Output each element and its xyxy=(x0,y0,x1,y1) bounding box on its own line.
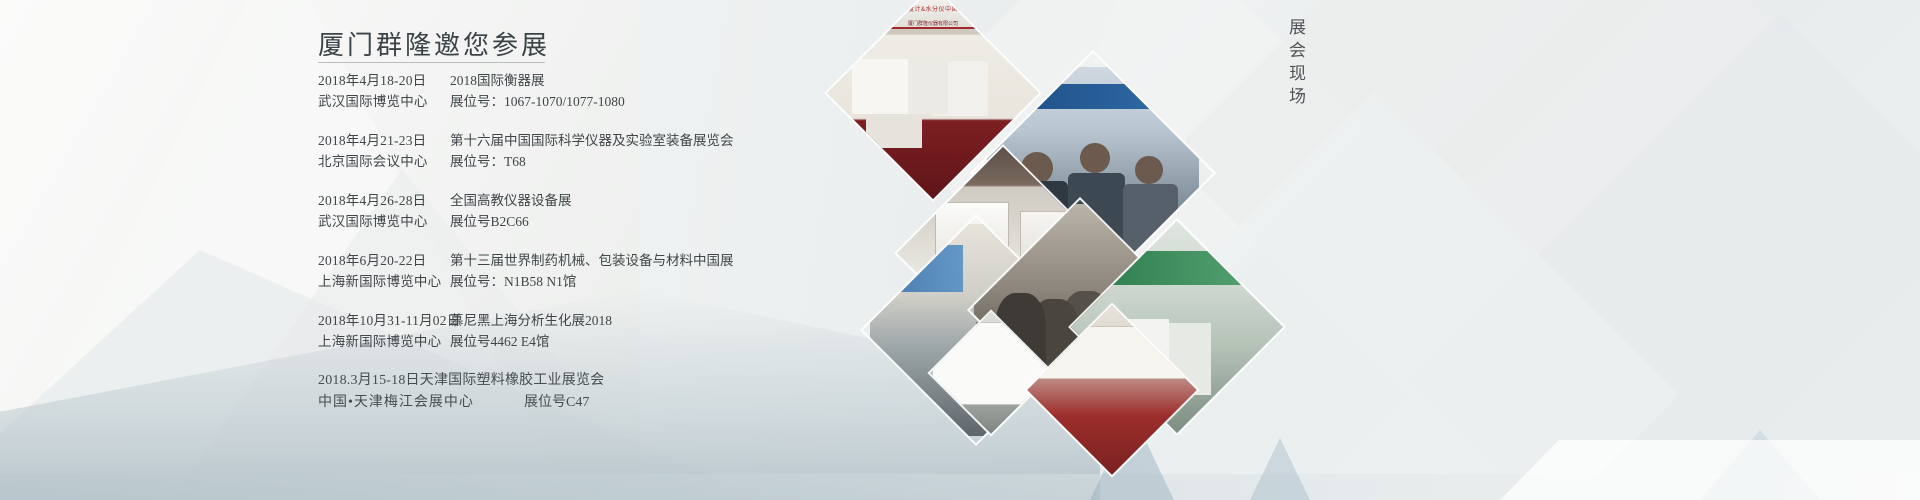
event-row-primary: 2018年6月20-22日 第十三届世界制药机械、包装设备与材料中国展 xyxy=(318,250,878,271)
event-list: 2018年4月18-20日 2018国际衡器展 武汉国际博览中心 展位号：106… xyxy=(318,70,878,432)
event-name: 第十三届世界制药机械、包装设备与材料中国展 xyxy=(438,250,734,271)
event-booth: 展位号：T68 xyxy=(438,151,526,172)
event-venue: 上海新国际博览中心 xyxy=(318,271,438,292)
list-item: 2018年4月26-28日 全国高教仪器设备展 武汉国际博览中心 展位号B2C6… xyxy=(318,190,878,232)
vertical-caption: 展会现场 xyxy=(1283,18,1308,110)
event-venue: 北京国际会议中心 xyxy=(318,151,438,172)
list-item: 2018年4月21-23日 第十六届中国国际科学仪器及实验室装备展览会 北京国际… xyxy=(318,130,878,172)
event-row-secondary: 北京国际会议中心 展位号：T68 xyxy=(318,151,878,172)
text-content-area: 厦门群隆邀您参展 2018年4月18-20日 2018国际衡器展 武汉国际博览中… xyxy=(0,0,900,500)
event-date: 2018年10月31-11月02日 xyxy=(318,310,438,331)
list-item: 2018年6月20-22日 第十三届世界制药机械、包装设备与材料中国展 上海新国… xyxy=(318,250,878,292)
event-date: 2018年4月26-28日 xyxy=(318,190,438,211)
event-venue: 武汉国际博览中心 xyxy=(318,91,438,112)
event-row-secondary: 武汉国际博览中心 展位号B2C66 xyxy=(318,211,878,232)
title-underline xyxy=(318,62,545,63)
white-wedge-accent xyxy=(1500,440,1920,500)
event-venue: 上海新国际博览中心 xyxy=(318,331,438,352)
event-row-secondary: 武汉国际博览中心 展位号：1067-1070/1077-1080 xyxy=(318,91,878,112)
event-booth: 展位号4462 E4馆 xyxy=(438,331,549,352)
event-row-primary: 2018年4月26-28日 全国高教仪器设备展 xyxy=(318,190,878,211)
booth-banner-caption-1: 密度计&水分仪中国制 xyxy=(848,4,1018,13)
event-row-secondary: 上海新国际博览中心 展位号：N1B58 N1馆 xyxy=(318,271,878,292)
event-venue: 武汉国际博览中心 xyxy=(318,211,438,232)
event-row-primary: 2018年4月18-20日 2018国际衡器展 xyxy=(318,70,878,91)
exhibition-banner: 厦门群隆邀您参展 2018年4月18-20日 2018国际衡器展 武汉国际博览中… xyxy=(0,0,1920,500)
event-venue: 中国•天津梅江会展中心 xyxy=(318,392,508,414)
event-booth: 展位号C47 xyxy=(508,392,589,414)
list-item: 2018年10月31-11月02日 慕尼黑上海分析生化展2018 上海新国际博览… xyxy=(318,310,878,352)
event-date: 2018年4月21-23日 xyxy=(318,130,438,151)
booth-banner-caption-2: 厦门群隆仪器有限公司 xyxy=(861,20,1005,27)
event-row-secondary: 上海新国际博览中心 展位号4462 E4馆 xyxy=(318,331,878,352)
event-row-primary: 2018.3月15-18日天津国际塑料橡胶工业展览会 xyxy=(318,370,878,392)
event-date: 2018.3月15-18日天津国际塑料橡胶工业展览会 xyxy=(318,370,604,392)
event-name: 慕尼黑上海分析生化展2018 xyxy=(438,310,612,331)
event-date: 2018年4月18-20日 xyxy=(318,70,438,91)
event-row-secondary: 中国•天津梅江会展中心 展位号C47 xyxy=(318,392,878,414)
event-date: 2018年6月20-22日 xyxy=(318,250,438,271)
photo-collage: 密度计&水分仪中国制 厦门群隆仪器有限公司 xyxy=(830,0,1310,500)
list-item: 2018年4月18-20日 2018国际衡器展 武汉国际博览中心 展位号：106… xyxy=(318,70,878,112)
list-item: 2018.3月15-18日天津国际塑料橡胶工业展览会 中国•天津梅江会展中心 展… xyxy=(318,370,878,414)
event-row-primary: 2018年10月31-11月02日 慕尼黑上海分析生化展2018 xyxy=(318,310,878,331)
event-name: 全国高教仪器设备展 xyxy=(438,190,572,211)
event-name: 第十六届中国国际科学仪器及实验室装备展览会 xyxy=(438,130,734,151)
event-row-primary: 2018年4月21-23日 第十六届中国国际科学仪器及实验室装备展览会 xyxy=(318,130,878,151)
event-booth: 展位号：N1B58 N1馆 xyxy=(438,271,576,292)
event-booth: 展位号B2C66 xyxy=(438,211,529,232)
page-title: 厦门群隆邀您参展 xyxy=(318,25,550,62)
event-name: 2018国际衡器展 xyxy=(438,70,545,91)
event-booth: 展位号：1067-1070/1077-1080 xyxy=(438,91,625,112)
